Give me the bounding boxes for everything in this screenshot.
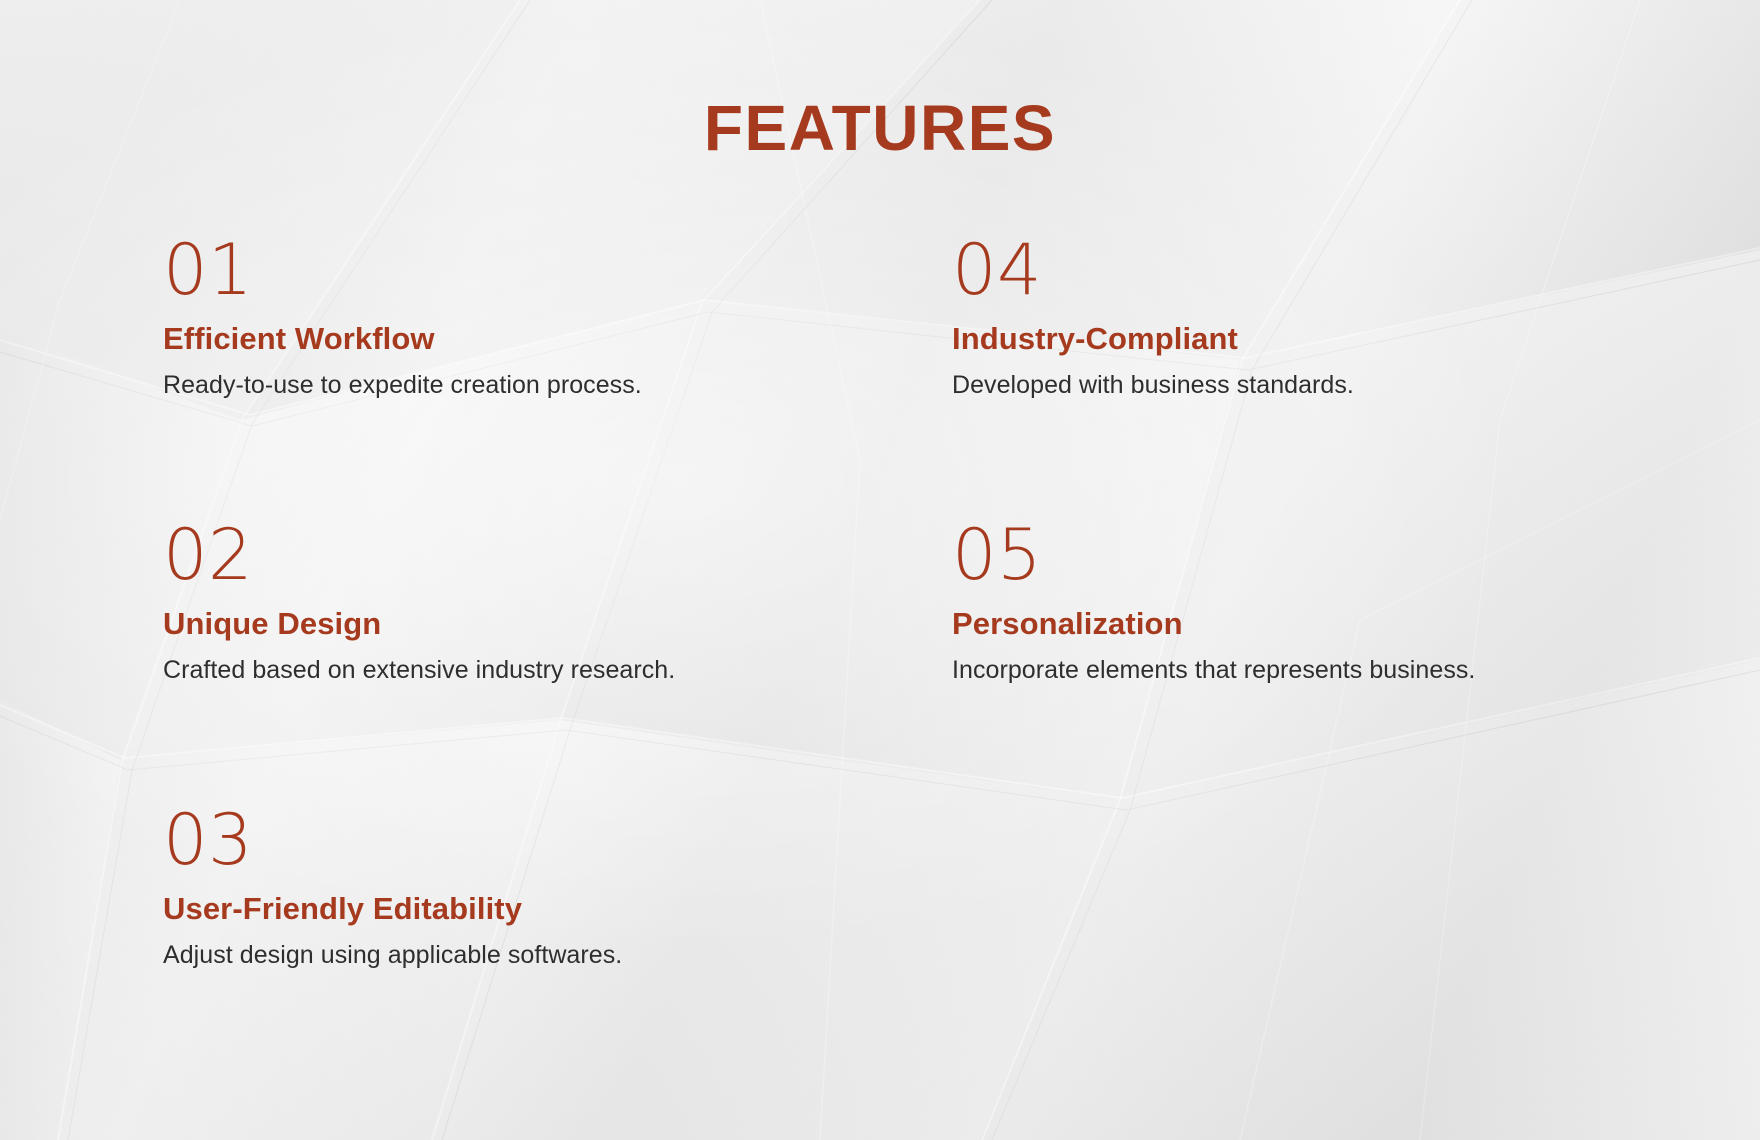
feature-number: 02 — [163, 523, 863, 587]
feature-description: Developed with business standards. — [952, 370, 1652, 400]
feature-number: 01 — [163, 238, 863, 302]
feature-title: User-Friendly Editability — [163, 892, 863, 926]
feature-title: Unique Design — [163, 607, 863, 641]
page-title: FEATURES — [0, 96, 1760, 160]
feature-item-04: 04 Industry-Compliant Developed with bus… — [952, 238, 1652, 400]
feature-title: Personalization — [952, 607, 1652, 641]
feature-number: 03 — [163, 808, 863, 872]
feature-description: Crafted based on extensive industry rese… — [163, 655, 863, 685]
feature-title: Efficient Workflow — [163, 322, 863, 356]
features-slide: FEATURES 01 Efficient Workflow Ready-to-… — [0, 0, 1760, 1140]
feature-item-05: 05 Personalization Incorporate elements … — [952, 523, 1652, 685]
feature-number: 04 — [952, 238, 1652, 302]
feature-item-02: 02 Unique Design Crafted based on extens… — [163, 523, 863, 685]
feature-number: 05 — [952, 523, 1652, 587]
feature-description: Incorporate elements that represents bus… — [952, 655, 1652, 685]
feature-item-03: 03 User-Friendly Editability Adjust desi… — [163, 808, 863, 970]
feature-description: Adjust design using applicable softwares… — [163, 940, 863, 970]
feature-description: Ready-to-use to expedite creation proces… — [163, 370, 863, 400]
feature-title: Industry-Compliant — [952, 322, 1652, 356]
feature-item-01: 01 Efficient Workflow Ready-to-use to ex… — [163, 238, 863, 400]
